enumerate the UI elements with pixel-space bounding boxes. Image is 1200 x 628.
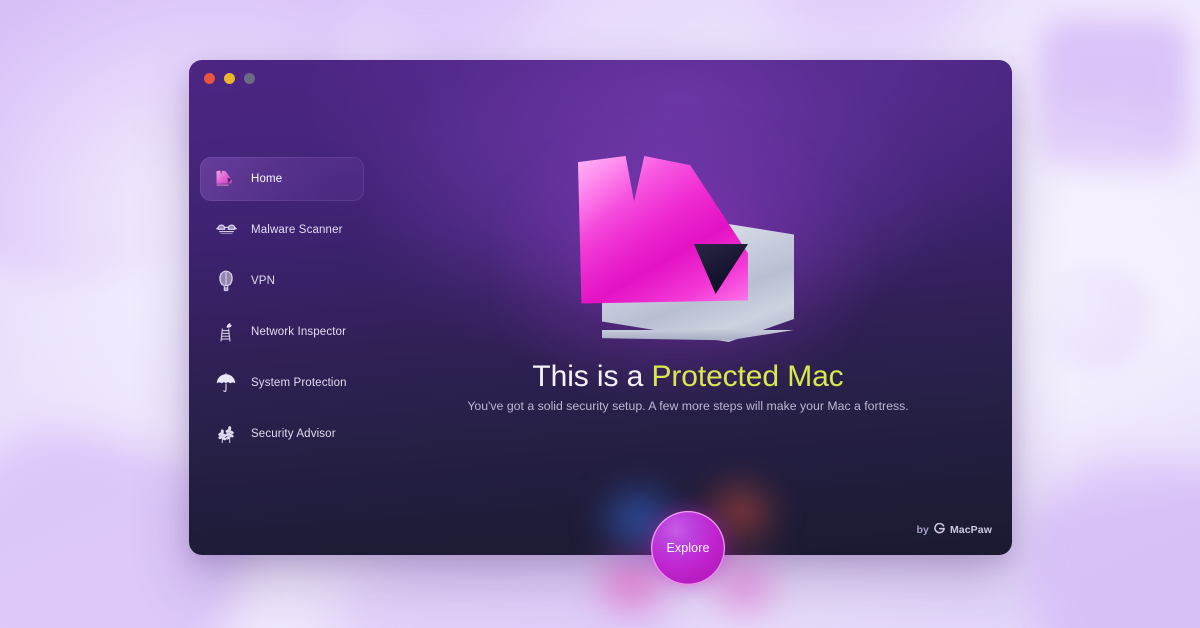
sunglasses-icon (214, 218, 238, 242)
brand-by-label: by (916, 524, 928, 536)
sidebar-item-security-advisor[interactable]: Security Advisor (200, 412, 364, 456)
umbrella-icon (214, 371, 238, 395)
wheat-plants-icon (214, 422, 238, 446)
screenshot-canvas: Home M (0, 0, 1200, 628)
page-title: This is a Protected Mac (364, 360, 1012, 394)
sidebar-item-vpn[interactable]: VPN (200, 259, 364, 303)
sidebar: Home M (200, 157, 364, 463)
brand-credit: by MacPaw (916, 523, 992, 537)
headline-prefix: This is a (532, 360, 651, 393)
page-subtitle: You've got a solid security setup. A few… (434, 398, 942, 415)
sidebar-item-home[interactable]: Home (200, 157, 364, 201)
sidebar-item-label: Home (251, 173, 282, 185)
explore-cta-wrapper: Explore (651, 511, 725, 585)
macpaw-swirl-icon (934, 523, 945, 537)
window-traffic-lights (204, 73, 255, 84)
ladder-bird-icon (214, 320, 238, 344)
sidebar-item-network-inspector[interactable]: Network Inspector (200, 310, 364, 354)
hot-air-balloon-icon (214, 269, 238, 293)
sidebar-item-label: Malware Scanner (251, 224, 343, 236)
maximize-button[interactable] (244, 73, 255, 84)
sidebar-item-label: VPN (251, 275, 275, 287)
sidebar-item-label: Network Inspector (251, 326, 346, 338)
macpaw-flag-icon (214, 167, 238, 191)
sidebar-item-system-protection[interactable]: System Protection (200, 361, 364, 405)
explore-button[interactable]: Explore (651, 511, 725, 585)
brand-name: MacPaw (950, 524, 992, 536)
close-button[interactable] (204, 73, 215, 84)
minimize-button[interactable] (224, 73, 235, 84)
sidebar-item-malware-scanner[interactable]: Malware Scanner (200, 208, 364, 252)
hero-graphic (558, 152, 818, 367)
headline-accent: Protected Mac (651, 360, 843, 393)
explore-button-label: Explore (666, 541, 709, 555)
sidebar-item-label: System Protection (251, 377, 347, 389)
sidebar-item-label: Security Advisor (251, 428, 336, 440)
